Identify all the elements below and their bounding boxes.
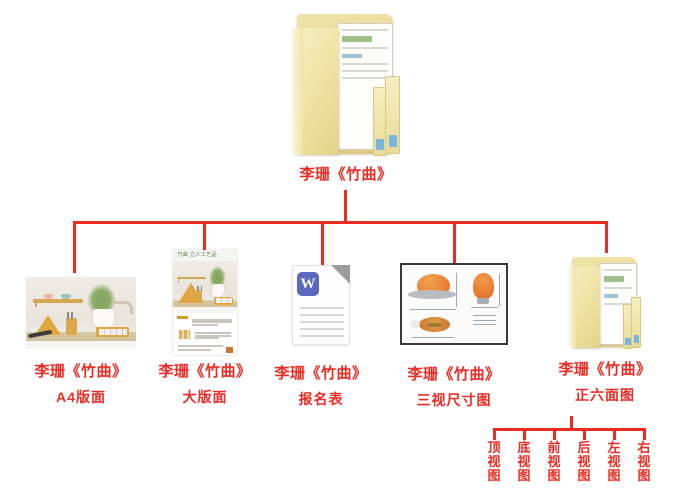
node-label-kind: 三视尺寸图: [417, 392, 492, 410]
diagram-canvas: 李珊《竹曲》 李珊《竹曲》 A4版面 竹曲 立人工: [0, 0, 692, 498]
photo-floor: [173, 307, 237, 313]
node-root-label: 李珊《竹曲》: [299, 166, 392, 185]
leaf-char: 图: [605, 469, 623, 483]
photo-storage-box: [214, 297, 233, 305]
paper-line: [604, 276, 624, 282]
document-line: [300, 321, 344, 323]
leaf-char: 视: [635, 455, 653, 469]
poster-text-line: [178, 345, 223, 347]
photo-vase: [93, 309, 114, 327]
leaf-back-view[interactable]: 后 视 图: [575, 441, 593, 483]
leaf-char: 视: [605, 455, 623, 469]
leaf-char: 前: [545, 441, 563, 455]
leaf-top-view[interactable]: 顶 视 图: [485, 441, 503, 483]
leaf-char: 视: [485, 455, 503, 469]
connector-drop-5: [605, 221, 608, 253]
dimension-line: [473, 324, 496, 325]
dimension-line: [473, 320, 496, 321]
photo-shelf: [177, 277, 206, 280]
drawing-side-view-base: [477, 298, 489, 304]
paper-line: [604, 269, 632, 271]
leaf-char: 图: [485, 469, 503, 483]
poster-photo: [173, 261, 237, 314]
poster-text-line: [195, 332, 231, 334]
connector-drop-1: [73, 221, 76, 273]
drawing-front-view-knob: [410, 320, 419, 328]
paper-line: [342, 63, 388, 65]
paper-line: [604, 294, 618, 298]
folder-fold: [292, 28, 303, 156]
paper-line: [342, 54, 362, 58]
poster-text-line: [178, 349, 211, 351]
node-label-kind: 报名表: [299, 391, 344, 409]
leaf-char: 右: [635, 441, 653, 455]
leaf-char: 图: [515, 469, 533, 483]
leaf-char: 视: [515, 455, 533, 469]
folder-icon[interactable]: [290, 8, 402, 160]
photo-faucet: [114, 301, 132, 314]
photo-pen-holder: [66, 318, 77, 335]
connector-subdrop-1: [493, 428, 496, 440]
leaf-bottom-view[interactable]: 底 视 图: [515, 441, 533, 483]
poster-text-line: [195, 337, 219, 339]
dimension-line: [410, 309, 456, 310]
poster-product-image: [179, 330, 189, 339]
connector-level2-bus: [493, 428, 646, 431]
dimension-line: [473, 315, 496, 316]
connector-subdrop-3: [553, 428, 556, 440]
photo-storage-box: [96, 327, 129, 338]
poster-text-line: [192, 324, 218, 326]
folder-tab: [631, 297, 641, 348]
node-child-threeview[interactable]: 李珊《竹曲》 三视尺寸图: [397, 263, 511, 409]
photo-shelf: [33, 299, 84, 303]
paper-line: [342, 29, 388, 31]
poster-logo: [226, 347, 233, 352]
leaf-front-view[interactable]: 前 视 图: [545, 441, 563, 483]
word-logo-badge: W: [297, 272, 318, 296]
word-document-icon[interactable]: W: [292, 265, 350, 345]
folder-tab: [385, 76, 399, 154]
leaf-char: 图: [575, 469, 593, 483]
node-label-name: 李珊《竹曲》: [274, 365, 367, 384]
paper-line: [342, 47, 388, 49]
poster-body: [173, 315, 237, 355]
poster-text-line: [192, 321, 232, 323]
document-text-lines: [300, 307, 344, 342]
document-line: [300, 328, 344, 330]
word-logo-letter: W: [300, 277, 315, 292]
dimension-line: [499, 274, 500, 305]
node-child-sixview[interactable]: 李珊《竹曲》 正六面图: [520, 253, 690, 404]
folder-icon[interactable]: [567, 253, 643, 351]
connector-subdrop-2: [523, 428, 526, 440]
paper-line: [604, 287, 632, 289]
drawing-side-view-object: [473, 273, 494, 300]
node-child-poster[interactable]: 竹曲 立人工艺品: [141, 250, 269, 406]
leaf-right-view[interactable]: 右 视 图: [635, 441, 653, 483]
poster-thumbnail-icon[interactable]: 竹曲 立人工艺品: [173, 250, 237, 355]
poster-header-text: 竹曲 立人工艺品: [177, 251, 217, 258]
node-label-kind: 大版面: [183, 389, 228, 407]
paper-line: [342, 77, 388, 79]
connector-drop-3: [321, 221, 324, 266]
paper-line: [342, 36, 372, 42]
dimension-line: [471, 307, 498, 308]
connector-drop-2: [203, 221, 206, 251]
leaf-char: 底: [515, 441, 533, 455]
leaf-left-view[interactable]: 左 视 图: [605, 441, 623, 483]
drawing-top-view-base: [408, 290, 456, 299]
connector-drop-4: [453, 221, 456, 263]
photo-pen-holder: [196, 290, 202, 303]
connector-subdrop-6: [643, 428, 646, 440]
poster-text-line: [192, 319, 232, 321]
photo-thumbnail-icon[interactable]: [26, 277, 136, 349]
document-line: [300, 314, 344, 316]
document-line: [300, 307, 344, 309]
dimension-line: [456, 273, 457, 307]
document-line: [300, 335, 344, 337]
connector-level1-bus: [73, 221, 608, 224]
leaf-char: 顶: [485, 441, 503, 455]
poster-photo-art: [173, 261, 237, 314]
photo-floor: [26, 341, 136, 349]
leaf-char: 视: [575, 455, 593, 469]
node-child-a4[interactable]: 李珊《竹曲》 A4版面: [5, 277, 157, 406]
node-label-name: 李珊《竹曲》: [158, 363, 251, 382]
node-label-name: 李珊《竹曲》: [558, 361, 651, 380]
node-label-name: 李珊《竹曲》: [34, 363, 127, 382]
leaf-char: 图: [545, 469, 563, 483]
node-label-name: 李珊《竹曲》: [407, 366, 500, 385]
connector-subdrop-5: [613, 428, 616, 440]
node-root[interactable]: 李珊《竹曲》: [246, 8, 446, 185]
dimension-line: [412, 337, 454, 338]
leaf-char: 图: [635, 469, 653, 483]
leaf-char: 视: [545, 455, 563, 469]
node-label-kind: 正六面图: [575, 387, 635, 405]
document-folded-corner: [331, 265, 350, 284]
connector-subdrop-4: [583, 428, 586, 440]
connector-root-stem: [344, 190, 347, 223]
poster-tag: [177, 316, 187, 319]
three-view-drawing-icon[interactable]: [400, 263, 508, 345]
node-child-form[interactable]: W 李珊《竹曲》 报名表: [265, 265, 377, 408]
paper-line: [342, 70, 388, 72]
leaf-char: 左: [605, 441, 623, 455]
node-label-kind: A4版面: [56, 389, 106, 407]
poster-text-line: [195, 335, 231, 337]
leaf-char: 后: [575, 441, 593, 455]
folder-fold: [569, 266, 577, 348]
